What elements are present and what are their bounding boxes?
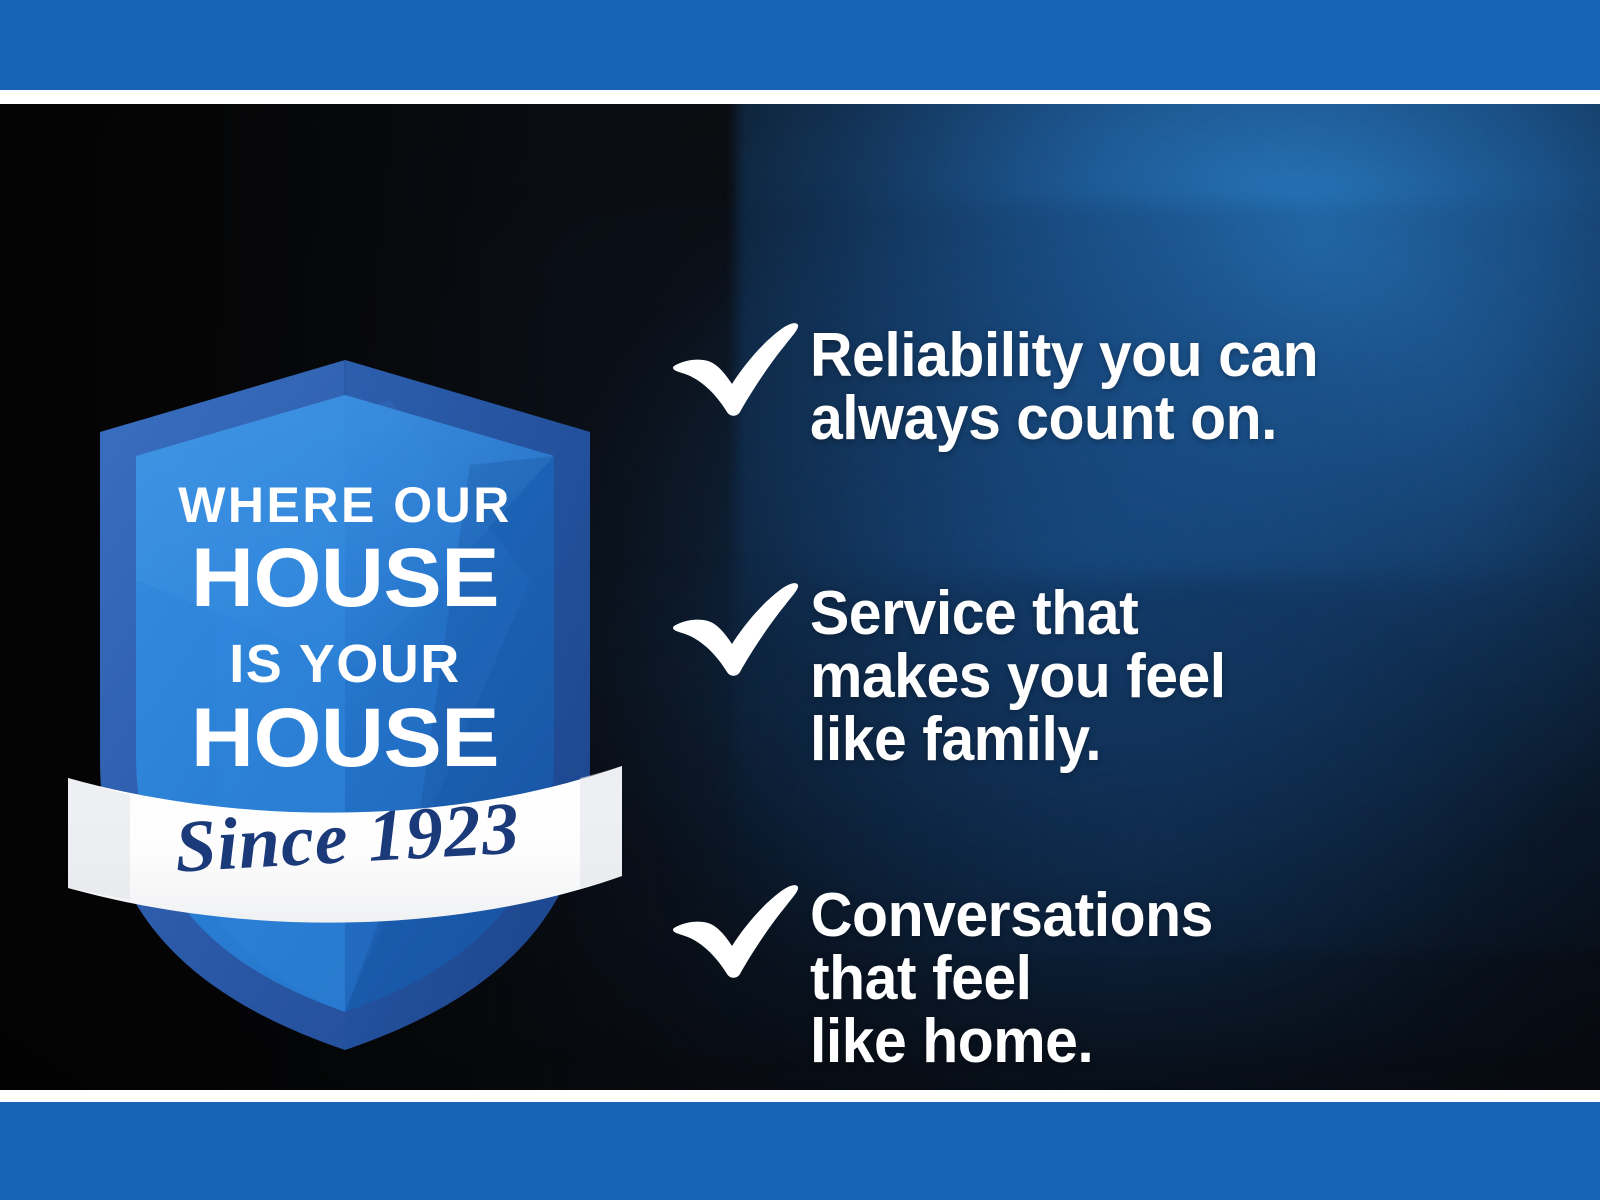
- benefit-text: Conversations that feel like home.: [810, 884, 1213, 1074]
- promo-graphic: WHERE OUR HOUSE IS YOUR HOUSE Since 1923: [0, 0, 1600, 1200]
- logo-line-2: HOUSE: [191, 531, 499, 625]
- benefit-text: Reliability you can always count on.: [810, 324, 1318, 450]
- logo-line-3: IS YOUR: [229, 634, 461, 694]
- list-item: Service that makes you feel like family.: [668, 578, 1248, 772]
- checkmark-icon: [668, 578, 800, 678]
- benefit-text: Service that makes you feel like family.: [810, 582, 1226, 772]
- list-item: Reliability you can always count on.: [668, 318, 1345, 450]
- logo-line-4: HOUSE: [191, 691, 499, 785]
- checkmark-icon: [668, 318, 800, 418]
- shield-logo: WHERE OUR HOUSE IS YOUR HOUSE Since 1923: [60, 250, 630, 1060]
- bottom-brand-bar: [0, 1102, 1600, 1200]
- checkmark-icon: [668, 880, 800, 980]
- main-stage: WHERE OUR HOUSE IS YOUR HOUSE Since 1923: [0, 104, 1600, 1090]
- top-white-divider: [0, 90, 1600, 104]
- benefits-list: Reliability you can always count on. Ser…: [668, 208, 1568, 1090]
- top-brand-bar: [0, 0, 1600, 90]
- bottom-white-divider: [0, 1090, 1600, 1102]
- logo-line-1: WHERE OUR: [178, 477, 512, 533]
- list-item: Conversations that feel like home.: [668, 880, 1234, 1074]
